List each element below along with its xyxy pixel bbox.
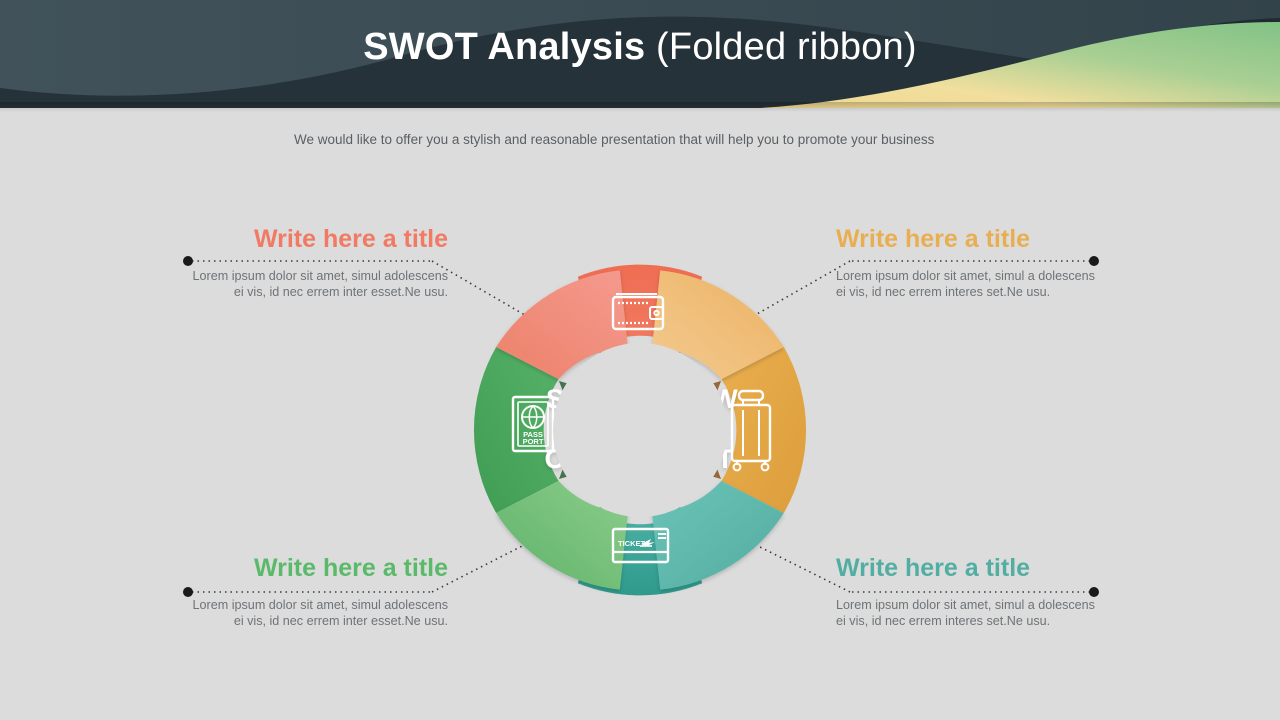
page-title-bold: SWOT Analysis (363, 26, 645, 68)
slide: SWOT Analysis (Folded ribbon) We would l… (0, 0, 1280, 720)
swot-block-opportunities[interactable]: Write here a title Lorem ipsum dolor sit… (180, 555, 448, 629)
page-title: SWOT Analysis (Folded ribbon) (0, 26, 1280, 69)
swot-block-body-strengths: Lorem ipsum dolor sit amet, simul adoles… (180, 268, 448, 300)
passport-icon-label-2: PORT (523, 437, 544, 446)
swot-block-threats[interactable]: Write here a title Lorem ipsum dolor sit… (836, 555, 1104, 629)
swot-block-title-threats: Write here a title (836, 555, 1104, 581)
swot-block-title-strengths: Write here a title (180, 226, 448, 252)
page-title-light: (Folded ribbon) (645, 26, 916, 68)
swot-block-body-opportunities: Lorem ipsum dolor sit amet, simul adoles… (180, 597, 448, 629)
slide-header: SWOT Analysis (Folded ribbon) (0, 0, 1280, 108)
swot-block-title-opportunities: Write here a title (180, 555, 448, 581)
swot-block-weaknesses[interactable]: Write here a title Lorem ipsum dolor sit… (836, 226, 1104, 300)
swot-block-strengths[interactable]: Write here a title Lorem ipsum dolor sit… (180, 226, 448, 300)
slide-subtitle: We would like to offer you a stylish and… (294, 132, 934, 147)
swot-block-title-weaknesses: Write here a title (836, 226, 1104, 252)
swot-block-body-weaknesses: Lorem ipsum dolor sit amet, simul a dole… (836, 268, 1104, 300)
header-shadow (0, 102, 1280, 112)
swot-block-body-threats: Lorem ipsum dolor sit amet, simul a dole… (836, 597, 1104, 629)
donut-center-hole (553, 343, 727, 517)
swot-donut-diagram: S W T O (455, 245, 825, 615)
